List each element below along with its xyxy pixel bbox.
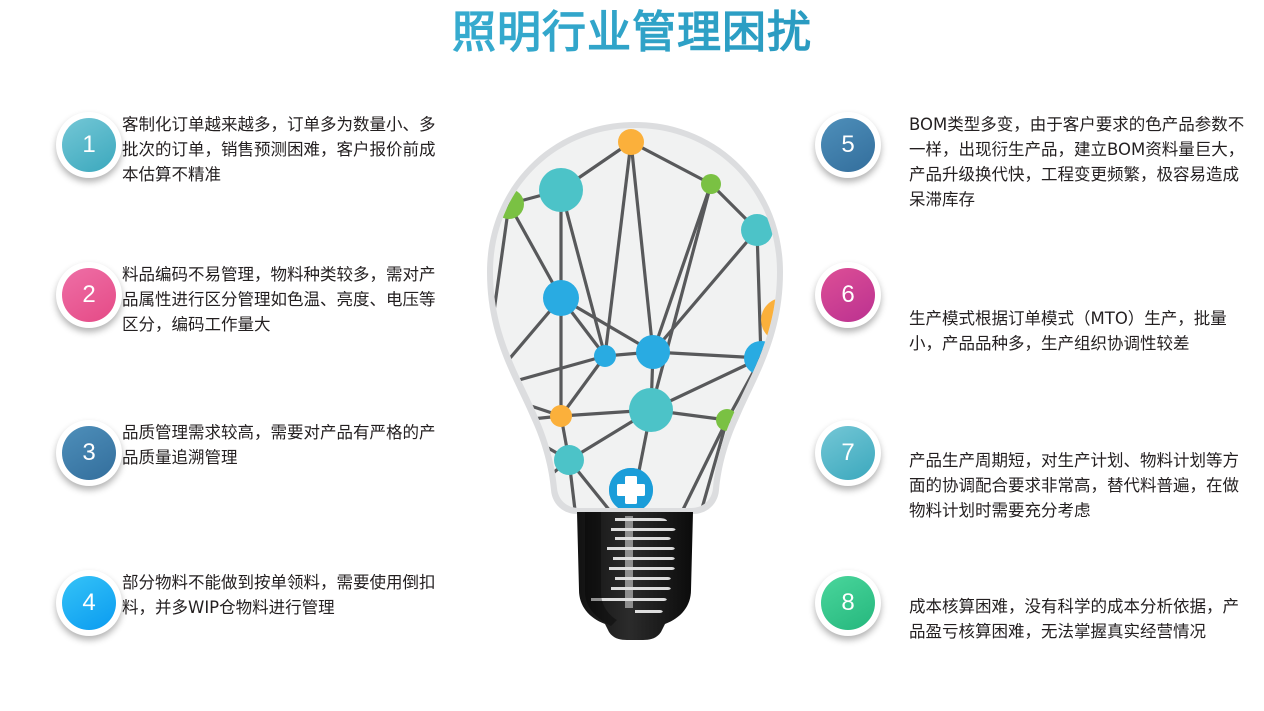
item-5: 5 BOM类型多变，由于客户要求的色产品参数不一样，出现衍生产品，建立BOM资料… [815, 112, 1255, 212]
item-8: 8 成本核算困难，没有科学的成本分析依据，产品盈亏核算困难，无法掌握真实经营情况 [815, 570, 1255, 644]
item-4: 部分物料不能做到按单领料，需要使用倒扣料，并多WIP仓物料进行管理 4 [40, 570, 470, 636]
item-1-text: 客制化订单越来越多，订单多为数量小、多批次的订单，销售预测困难，客户报价前成本估… [122, 112, 470, 187]
badge-number: 6 [821, 268, 875, 322]
badge-number: 5 [821, 118, 875, 172]
item-8-text: 成本核算困难，没有科学的成本分析依据，产品盈亏核算困难，无法掌握真实经营情况 [881, 570, 1249, 644]
item-2: 料品编码不易管理，物料种类较多，需对产品属性进行区分管理如色温、亮度、电压等区分… [40, 262, 470, 337]
item-6: 6 生产模式根据订单模式（MTO）生产，批量小，产品品种多，生产组织协调性较差 [815, 262, 1255, 356]
item-3-text: 品质管理需求较高，需要对产品有严格的产品质量追溯管理 [122, 420, 470, 470]
item-4-text: 部分物料不能做到按单领料，需要使用倒扣料，并多WIP仓物料进行管理 [122, 570, 470, 620]
badge-number: 2 [62, 268, 116, 322]
item-2-text: 料品编码不易管理，物料种类较多，需对产品属性进行区分管理如色温、亮度、电压等区分… [122, 262, 470, 337]
page-title: 照明行业管理困扰 [0, 2, 1264, 64]
item-2-badge[interactable]: 2 [56, 262, 122, 328]
item-7-badge[interactable]: 7 [815, 420, 881, 486]
item-1: 客制化订单越来越多，订单多为数量小、多批次的订单，销售预测困难，客户报价前成本估… [40, 112, 470, 187]
lightbulb-network-illustration [465, 120, 805, 640]
badge-number: 8 [821, 576, 875, 630]
item-6-badge[interactable]: 6 [815, 262, 881, 328]
item-8-badge[interactable]: 8 [815, 570, 881, 636]
badge-number: 3 [62, 426, 116, 480]
badge-number: 7 [821, 426, 875, 480]
plus-node-icon [609, 468, 653, 512]
item-4-badge[interactable]: 4 [56, 570, 122, 636]
badge-number: 1 [62, 118, 116, 172]
item-5-text: BOM类型多变，由于客户要求的色产品参数不一样，出现衍生产品，建立BOM资料量巨… [881, 112, 1249, 212]
item-3: 品质管理需求较高，需要对产品有严格的产品质量追溯管理 3 [40, 420, 470, 486]
item-5-badge[interactable]: 5 [815, 112, 881, 178]
badge-number: 4 [62, 576, 116, 630]
bulb-screw-base [577, 512, 693, 640]
item-7-text: 产品生产周期短，对生产计划、物料计划等方面的协调配合要求非常高，替代料普遍，在做… [881, 420, 1249, 523]
item-1-badge[interactable]: 1 [56, 112, 122, 178]
item-6-text: 生产模式根据订单模式（MTO）生产，批量小，产品品种多，生产组织协调性较差 [881, 262, 1249, 356]
item-3-badge[interactable]: 3 [56, 420, 122, 486]
item-7: 7 产品生产周期短，对生产计划、物料计划等方面的协调配合要求非常高，替代料普遍，… [815, 420, 1255, 523]
